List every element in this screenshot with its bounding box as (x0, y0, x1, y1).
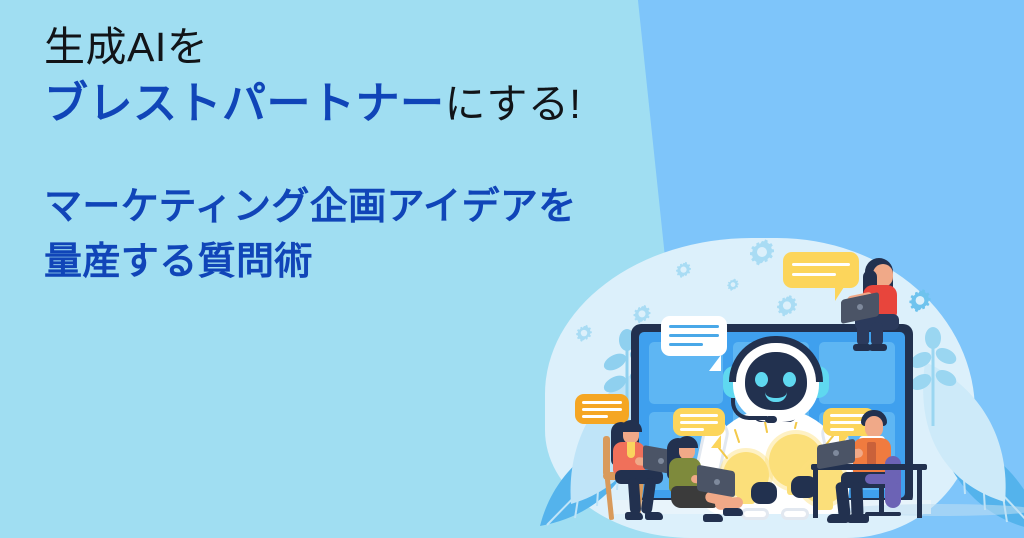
laptop-logo (857, 304, 863, 310)
leg (857, 322, 869, 346)
bubble-line (582, 401, 622, 404)
robot-mic-arm (731, 398, 767, 420)
robot-eye-right (783, 372, 796, 387)
hair-front (676, 436, 698, 448)
leg-2 (871, 322, 883, 346)
hero-illustration (545, 236, 1024, 538)
bubble-line (669, 343, 703, 346)
gear-icon-2 (673, 261, 694, 282)
leg-shin-2 (850, 482, 863, 518)
bubble-line (792, 273, 836, 276)
robot-hand-left (751, 482, 777, 504)
office-chair-post (879, 484, 884, 514)
chair-leg-back (605, 478, 614, 520)
bubble-white-monitor (661, 316, 727, 356)
collar (627, 442, 635, 458)
subheadline-line-1: マーケティング企画アイデアを (44, 180, 764, 235)
bubble-line (680, 421, 718, 424)
bubble-line (582, 408, 622, 411)
bubble-line (792, 263, 850, 266)
person-woman-center-floor (661, 434, 747, 526)
laptop-logo (833, 450, 839, 456)
shoe-left (625, 512, 643, 520)
shoe-left (703, 514, 723, 522)
hair-front (620, 420, 642, 432)
robot-foot-right (781, 508, 809, 520)
gear-icon-6 (573, 324, 595, 346)
desk-leg-left (813, 470, 818, 518)
desk-leg-right (917, 470, 922, 518)
bubble-line (680, 428, 704, 431)
gear-icon-3 (725, 278, 741, 294)
shoe-right (723, 508, 743, 516)
shoe-left (827, 514, 849, 523)
headline-highlight: ブレストパートナー (44, 79, 445, 128)
bubble-tail (835, 287, 844, 301)
bubble-top-right (783, 252, 859, 288)
bubble-line (669, 334, 719, 337)
chair-back (603, 436, 610, 476)
gear-icon-1 (745, 238, 779, 272)
bubble-tail (709, 355, 721, 371)
person-man-at-desk (831, 408, 951, 526)
shoe-right (869, 344, 887, 351)
bubble-yellow-center (673, 408, 725, 436)
robot-eye-left (755, 372, 768, 387)
headline-line-1: 生成AIを (44, 22, 744, 72)
face (865, 416, 883, 438)
gear-icon-4 (773, 294, 801, 322)
promo-banner: 生成AIを ブレストパートナーにする! マーケティング企画アイデアを 量産する質… (0, 0, 1024, 538)
headline-tail: にする! (445, 81, 582, 127)
bubble-line (680, 414, 718, 417)
office-chair-seat (865, 474, 901, 484)
office-chair-base (865, 512, 901, 516)
laptop-logo (714, 479, 720, 485)
bubble-line (669, 325, 719, 328)
headline-block: 生成AIを ブレストパートナーにする! (44, 22, 744, 131)
headline-line-2: ブレストパートナーにする! (44, 76, 744, 131)
